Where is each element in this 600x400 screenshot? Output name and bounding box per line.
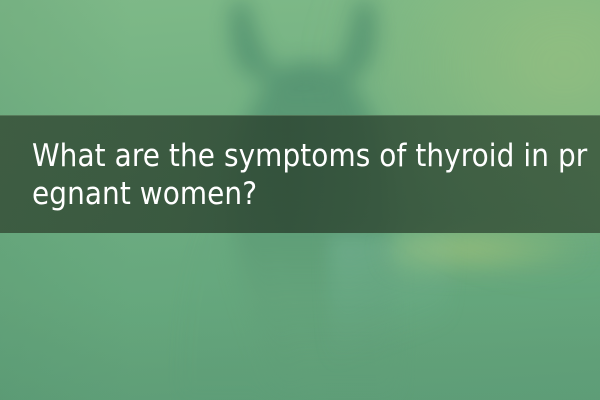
caption-band-top-hairline — [0, 115, 600, 116]
caption-overlay-band: What are the symptoms of thyroid in preg… — [0, 115, 600, 233]
question-image-card: What are the symptoms of thyroid in preg… — [0, 0, 600, 400]
question-caption-text: What are the symptoms of thyroid in preg… — [32, 137, 588, 213]
